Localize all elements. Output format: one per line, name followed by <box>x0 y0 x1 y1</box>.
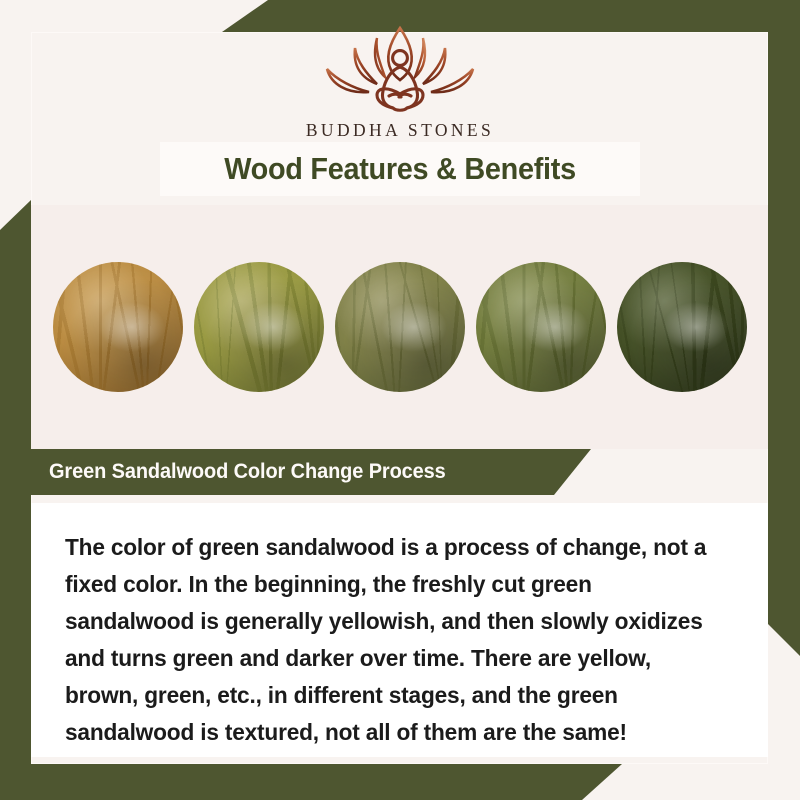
lotus-meditation-icon <box>315 22 485 116</box>
page-title: Wood Features & Benefits <box>224 151 576 187</box>
bead-stage-1 <box>53 262 183 392</box>
bead-stage-2 <box>194 262 324 392</box>
page-title-plaque: Wood Features & Benefits <box>160 142 640 196</box>
bead-specular-highlight <box>98 301 166 353</box>
brand-logo: BUDDHA STONES <box>0 22 800 141</box>
section-banner: Green Sandalwood Color Change Process <box>31 449 591 495</box>
body-card: The color of green sandalwood is a proce… <box>31 503 768 757</box>
frame-band-bottom <box>0 764 622 800</box>
bead-stage-3 <box>335 262 465 392</box>
poster-canvas: BUDDHA STONES Wood Features & Benefits G… <box>0 0 800 800</box>
bead-row <box>31 205 768 449</box>
bead-specular-highlight <box>521 301 589 353</box>
brand-wordmark: BUDDHA STONES <box>306 120 494 141</box>
bead-stage-4 <box>476 262 606 392</box>
bead-stage-5 <box>617 262 747 392</box>
section-banner-label: Green Sandalwood Color Change Process <box>49 460 446 484</box>
frame-band-left <box>0 200 31 800</box>
bead-specular-highlight <box>239 301 307 353</box>
bead-specular-highlight <box>662 301 730 353</box>
bead-specular-highlight <box>380 301 448 353</box>
body-paragraph: The color of green sandalwood is a proce… <box>65 529 711 751</box>
bead-gallery <box>31 205 768 449</box>
